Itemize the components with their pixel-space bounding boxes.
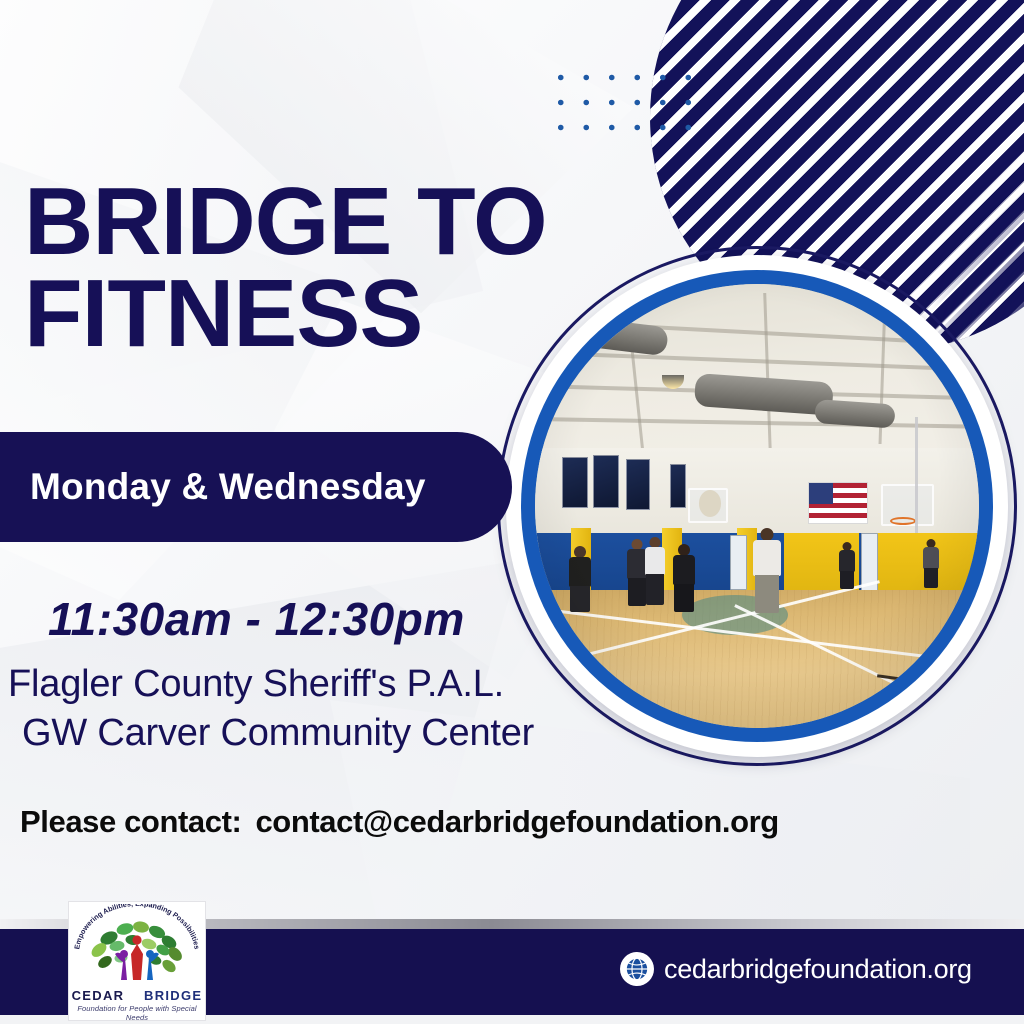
- website-url-text: cedarbridgefoundation.org: [664, 954, 972, 985]
- contact-line: Please contact:contact@cedarbridgefounda…: [20, 804, 779, 840]
- title-line-2: FITNESS: [24, 268, 584, 360]
- title-line-1: BRIDGE TO: [24, 168, 547, 275]
- venue-line-2: GW Carver Community Center: [8, 709, 628, 758]
- website-link[interactable]: cedarbridgefoundation.org: [620, 952, 972, 986]
- venue-block: Flagler County Sheriff's P.A.L. GW Carve…: [8, 660, 628, 757]
- page-title: BRIDGE TO FITNESS: [24, 176, 584, 360]
- schedule-time: 11:30am - 12:30pm: [48, 592, 465, 646]
- poster-canvas: BRIDGE TO FITNESS Monday & Wednesday 11:…: [0, 0, 1024, 1024]
- logo-tree-icon: [69, 914, 205, 990]
- dot-grid-decoration: [545, 62, 697, 138]
- venue-line-1: Flagler County Sheriff's P.A.L.: [8, 660, 628, 709]
- organization-logo: Empowering Abilities, Expanding Possibil…: [68, 901, 206, 1021]
- globe-icon: [620, 952, 654, 986]
- logo-brand-text: CEDAR BRIDGE: [69, 988, 205, 1003]
- schedule-days-banner: Monday & Wednesday: [0, 432, 512, 542]
- logo-tagline: Foundation for People with Special Needs: [69, 1004, 205, 1021]
- contact-email[interactable]: contact@cedarbridgefoundation.org: [255, 804, 778, 839]
- contact-label: Please contact:: [20, 804, 241, 839]
- logo-brand-word-2: BRIDGE: [144, 988, 202, 1003]
- schedule-days-text: Monday & Wednesday: [0, 466, 426, 508]
- logo-brand-word-1: CEDAR: [72, 988, 125, 1003]
